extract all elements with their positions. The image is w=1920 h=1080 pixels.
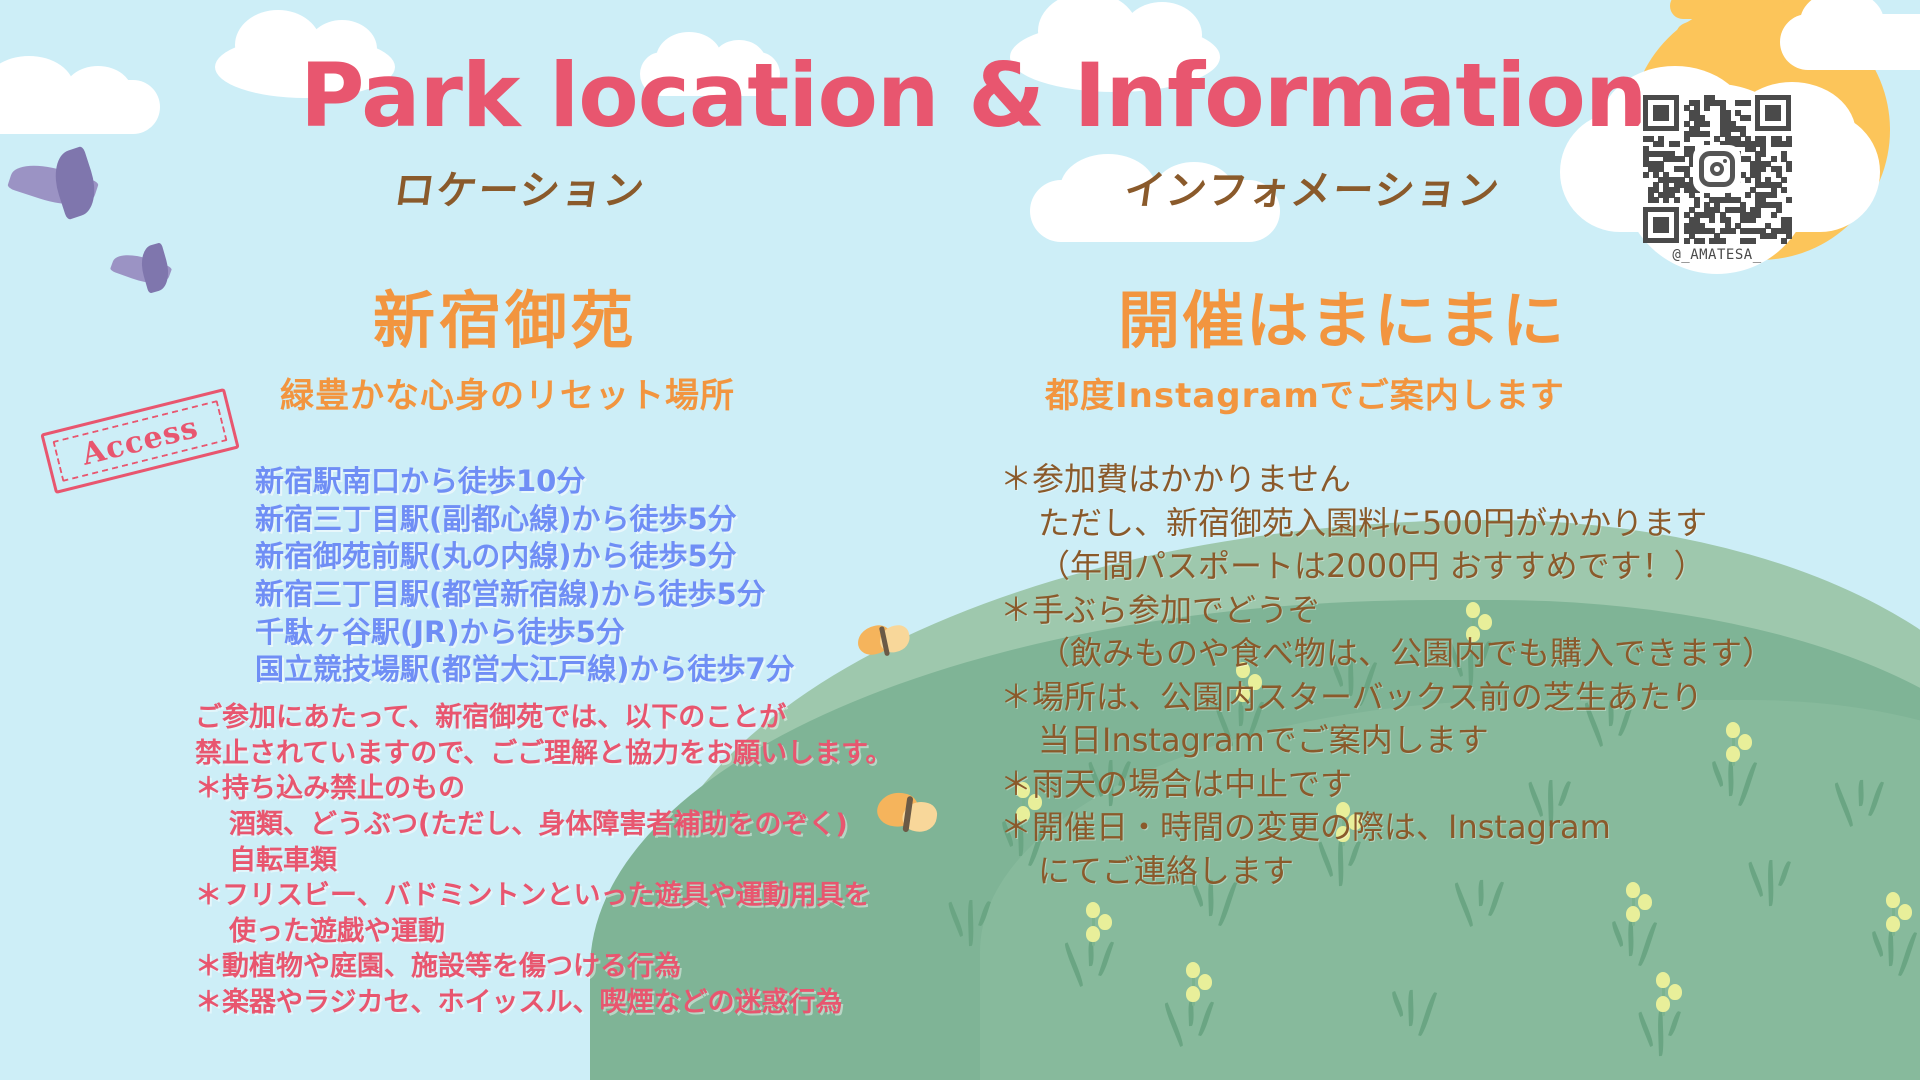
qr-module [1694,202,1700,208]
list-item: ＊動植物や庭園、施設等を傷つける行為 [195,949,955,985]
qr-module [1730,228,1736,234]
qr-module [1786,233,1792,239]
list-item: 当日Instagramでご案内します [1000,719,1920,763]
event-tagline: 都度Instagramでご案内します [1045,378,1565,415]
list-item: ＊フリスビー、バドミントンといった遊具や運動用具を [195,878,955,914]
list-item: 国立競技場駅(都営大江戸線)から徒歩7分 [255,651,975,689]
qr-module [1750,217,1756,223]
qr-module [1663,197,1669,203]
list-item: 新宿御苑前駅(丸の内線)から徒歩5分 [255,538,975,576]
qr-module [1684,136,1690,142]
flower-icon [1668,984,1682,1000]
qr-module [1760,151,1766,157]
information-subheading: インフォメーション [1121,158,1505,216]
qr-module [1771,212,1777,218]
information-list: ＊参加費はかかりませんただし、新宿御苑入園料に500円がかかります（年間パスポー… [1000,458,1920,893]
flower-icon [1098,914,1112,930]
qr-finder-pattern [1755,95,1791,131]
qr-module [1781,238,1787,244]
list-item: （飲みものや食べ物は、公園内でも購入できます） [1000,632,1920,676]
qr-module [1704,131,1710,137]
list-item: 新宿駅南口から徒歩10分 [255,463,975,501]
qr-finder-pattern [1643,95,1679,131]
event-name: 開催はまにまに [1118,290,1566,352]
qr-module [1679,156,1685,162]
qr-module [1745,100,1751,106]
list-item: 使った遊戯や運動 [195,914,955,950]
park-rules-list: ご参加にあたって、新宿御苑では、以下のことが禁止されていますので、ごご理解と協力… [195,700,955,1021]
location-subheading: ロケーション [391,158,650,216]
qr-module [1745,115,1751,121]
qr-module [1781,187,1787,193]
qr-module [1786,166,1792,172]
flower-icon [1886,916,1900,932]
list-item: ＊開催日・時間の変更の際は、Instagram [1000,806,1920,850]
list-item: ご参加にあたって、新宿御苑では、以下のことが [195,700,955,736]
list-item: ＊楽器やラジカセ、ホイッスル、喫煙などの迷惑行為 [195,985,955,1021]
cloud-icon [1780,14,1920,70]
page-title: Park location & Information [300,52,1630,140]
flower-icon [1886,892,1900,908]
flower-icon [1086,902,1100,918]
qr-module [1704,105,1710,111]
qr-module [1745,192,1751,198]
qr-module [1776,207,1782,213]
flower-icon [1898,904,1912,920]
list-item: 酒類、どうぶつ(ただし、身体障害者補助をのぞく) [195,807,955,843]
access-list: 新宿駅南口から徒歩10分新宿三丁目駅(副都心線)から徒歩5分新宿御苑前駅(丸の内… [255,463,975,689]
flower-icon [1086,926,1100,942]
flower-icon [1656,996,1670,1012]
qr-module [1674,141,1680,147]
list-item: 新宿三丁目駅(副都心線)から徒歩5分 [255,501,975,539]
qr-module [1771,156,1777,162]
flower-icon [1186,986,1200,1002]
qr-module [1709,217,1715,223]
qr-module [1643,172,1649,178]
list-item: 新宿三丁目駅(都営新宿線)から徒歩5分 [255,576,975,614]
flower-icon [1656,972,1670,988]
park-tagline: 緑豊かな心身のリセット場所 [280,378,735,415]
qr-module [1720,238,1726,244]
qr-module [1771,192,1777,198]
flower-icon [1638,894,1652,910]
flower-icon [1186,962,1200,978]
park-name: 新宿御苑 [373,290,637,352]
list-item: ＊持ち込み禁止のもの [195,771,955,807]
qr-module [1771,233,1777,239]
qr-module [1786,141,1792,147]
qr-module [1674,197,1680,203]
list-item: ＊場所は、公園内スターバックス前の芝生あたり [1000,676,1920,720]
instagram-icon [1693,145,1741,193]
list-item: 禁止されていますので、ごご理解と協力をお願いします。 [195,736,955,772]
instagram-handle: @_AMATESA_ [1672,247,1761,263]
list-item: ＊参加費はかかりません [1000,458,1920,502]
flower-icon [1198,974,1212,990]
list-item: 千駄ヶ谷駅(JR)から徒歩5分 [255,614,975,652]
qr-module [1699,238,1705,244]
qr-module [1658,141,1664,147]
qr-module [1745,177,1751,183]
qr-module [1750,238,1756,244]
list-item: 自転車類 [195,843,955,879]
qr-module [1684,238,1690,244]
qr-module [1786,197,1792,203]
qr-module [1704,121,1710,127]
poster-canvas: Park location & Information ロケーション インフォメ… [0,0,1920,1080]
qr-finder-pattern [1643,207,1679,243]
list-item: にてご連絡します [1000,850,1920,894]
list-item: ＊手ぶら参加でどうぞ [1000,589,1920,633]
list-item: （年間パスポートは2000円 おすすめです！） [1000,545,1920,589]
cloud-icon [0,80,160,134]
list-item: ただし、新宿御苑入園料に500円がかかります [1000,502,1920,546]
qr-code-matrix[interactable] [1643,95,1791,243]
flower-icon [1626,906,1640,922]
qr-module [1760,166,1766,172]
qr-code-badge[interactable]: @_AMATESA_ [1622,84,1812,274]
qr-module [1653,197,1659,203]
list-item: ＊雨天の場合は中止です [1000,763,1920,807]
